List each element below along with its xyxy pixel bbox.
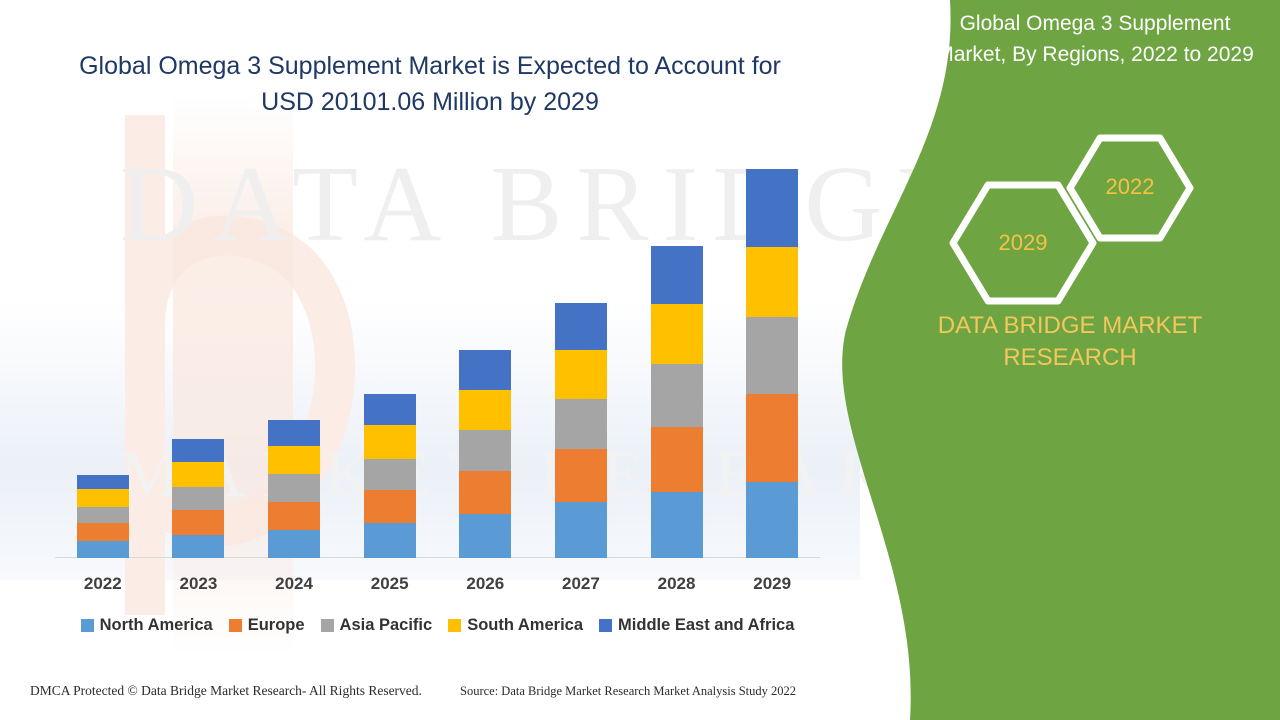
bar-2024[interactable] [268,420,320,558]
legend-label: Middle East and Africa [618,616,794,635]
legend-item-middle-east-and-africa[interactable]: Middle East and Africa [599,616,794,635]
segment-asia-pacific [459,430,511,471]
chart-legend: North AmericaEuropeAsia PacificSouth Ame… [55,616,820,635]
x-label-2025: 2025 [345,574,435,594]
x-label-2022: 2022 [58,574,148,594]
bar-2027[interactable] [555,303,607,558]
legend-label: North America [100,616,213,635]
x-label-2029: 2029 [727,574,817,594]
hexagon-outlines-svg [870,130,1280,305]
segment-middle-east-and-africa [555,303,607,350]
page-title: Global Omega 3 Supplement Market is Expe… [60,48,800,120]
segment-europe [172,510,224,535]
segment-north-america [77,541,129,558]
x-label-2024: 2024 [249,574,339,594]
x-label-2028: 2028 [632,574,722,594]
bar-2028[interactable] [651,246,703,558]
segment-asia-pacific [268,474,320,501]
segment-middle-east-and-africa [651,246,703,304]
segment-middle-east-and-africa [172,439,224,462]
segment-middle-east-and-africa [459,350,511,390]
segment-europe [268,502,320,530]
source-text: Source: Data Bridge Market Research Mark… [460,684,796,699]
segment-asia-pacific [77,507,129,524]
segment-south-america [364,425,416,458]
green-side-panel: Global Omega 3 Supplement Market, By Reg… [840,0,1280,720]
infographic-page: DATA BRIDGE MARKET RESEARCH Global Omega… [0,0,1280,720]
legend-swatch-icon [599,619,612,632]
x-label-2027: 2027 [536,574,626,594]
x-label-2023: 2023 [153,574,243,594]
segment-south-america [651,304,703,365]
segment-asia-pacific [555,399,607,449]
legend-item-south-america[interactable]: South America [448,616,583,635]
segment-europe [555,449,607,501]
segment-asia-pacific [651,364,703,427]
x-axis-labels: 20222023202420252026202720282029 [55,574,820,600]
bar-2022[interactable] [77,475,129,558]
legend-item-europe[interactable]: Europe [229,616,305,635]
legend-label: Europe [248,616,305,635]
legend-swatch-icon [81,619,94,632]
stacked-bar-chart [55,150,820,558]
bar-2025[interactable] [364,394,416,558]
bar-2029[interactable] [746,169,798,558]
bar-2026[interactable] [459,350,511,558]
copyright-text: DMCA Protected © Data Bridge Market Rese… [30,683,422,699]
segment-middle-east-and-africa [268,420,320,446]
segment-europe [746,394,798,482]
segment-middle-east-and-africa [77,475,129,489]
segment-middle-east-and-africa [364,394,416,425]
segment-asia-pacific [364,459,416,490]
legend-swatch-icon [229,619,242,632]
bar-2023[interactable] [172,439,224,558]
segment-asia-pacific [746,317,798,393]
segment-north-america [459,514,511,558]
segment-south-america [555,350,607,399]
segment-south-america [746,247,798,317]
panel-title: Global Omega 3 Supplement Market, By Reg… [930,8,1260,70]
legend-item-north-america[interactable]: North America [81,616,213,635]
segment-south-america [268,446,320,474]
legend-label: Asia Pacific [340,616,433,635]
segment-north-america [268,530,320,558]
segment-north-america [172,535,224,558]
legend-swatch-icon [321,619,334,632]
segment-europe [651,427,703,492]
legend-item-asia-pacific[interactable]: Asia Pacific [321,616,433,635]
year-hexagons: 2022 2029 [870,130,1280,305]
x-label-2026: 2026 [440,574,530,594]
green-panel-content: Global Omega 3 Supplement Market, By Reg… [840,0,1280,720]
segment-europe [77,523,129,541]
segment-north-america [555,502,607,558]
segment-north-america [364,523,416,558]
segment-south-america [77,489,129,507]
segment-middle-east-and-africa [746,169,798,247]
hexagon-label-end: 2029 [968,230,1078,256]
segment-south-america [459,390,511,431]
segment-asia-pacific [172,487,224,510]
segment-europe [459,471,511,514]
segment-europe [364,490,416,523]
chart-panel: Global Omega 3 Supplement Market is Expe… [0,0,900,720]
segment-north-america [651,492,703,558]
brand-name: DATA BRIDGE MARKET RESEARCH [895,310,1245,374]
hexagon-label-start: 2022 [1075,174,1185,200]
segment-north-america [746,482,798,558]
legend-label: South America [467,616,583,635]
segment-south-america [172,462,224,487]
legend-swatch-icon [448,619,461,632]
